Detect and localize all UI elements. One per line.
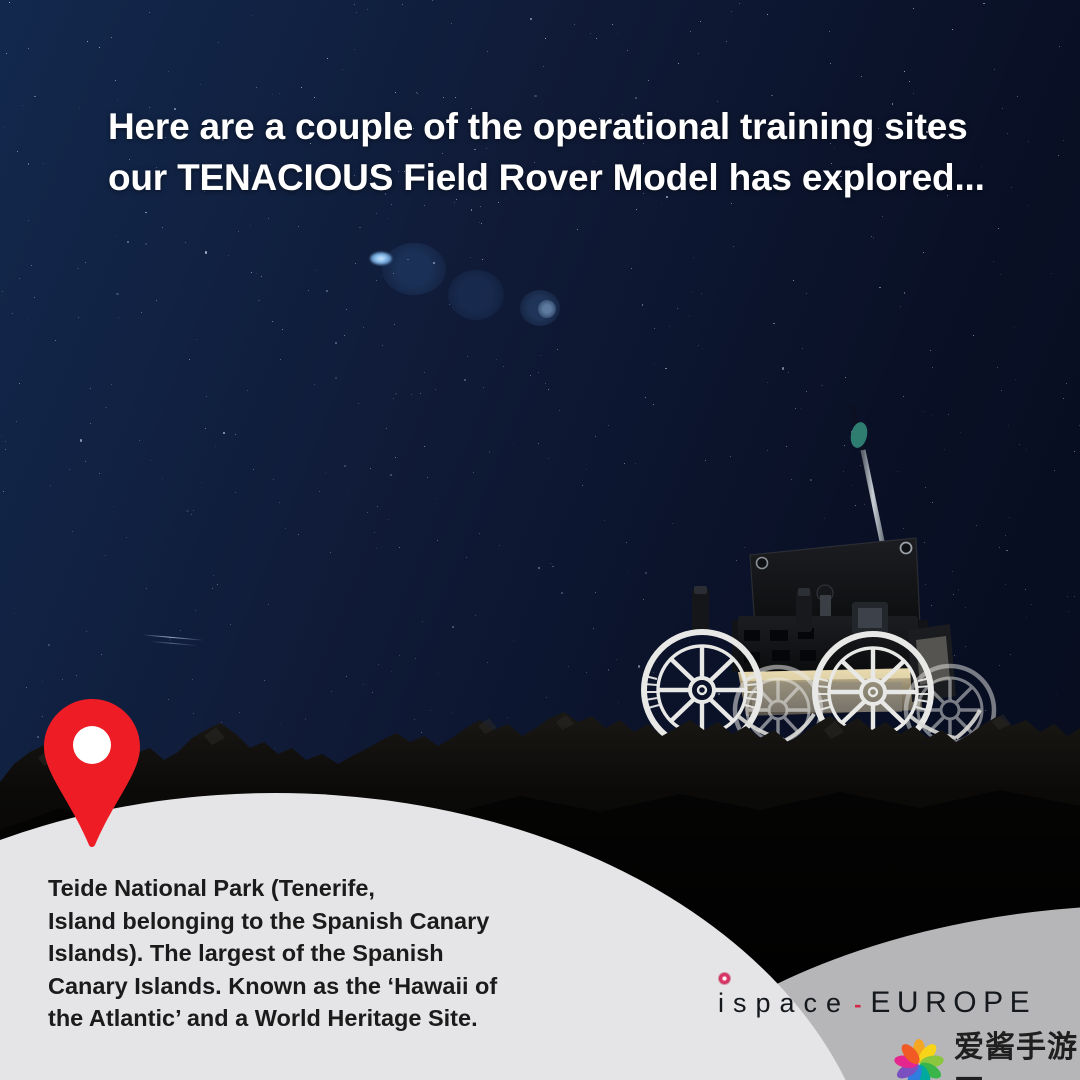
social-post-canvas: Here are a couple of the operational tra… bbox=[0, 0, 1080, 1080]
logo-word-europe: EUROPE bbox=[870, 986, 1036, 1020]
logo-dot-icon bbox=[719, 973, 730, 984]
pinwheel-icon bbox=[893, 1038, 945, 1080]
logo-dash: - bbox=[850, 992, 870, 1018]
page-title: Here are a couple of the operational tra… bbox=[108, 101, 988, 203]
ispace-europe-logo[interactable]: i space - EUROPE bbox=[718, 986, 1036, 1020]
watermark: 爱酱手游网 bbox=[893, 1022, 1080, 1080]
lens-flare-core bbox=[370, 252, 392, 265]
logo-letter-i: i bbox=[718, 988, 733, 1019]
watermark-text: 爱酱手游网 bbox=[954, 1022, 1080, 1080]
logo-word-space: space bbox=[733, 988, 850, 1019]
location-pin-icon[interactable] bbox=[44, 699, 140, 847]
location-caption: Teide National Park (Tenerife, Island be… bbox=[48, 872, 568, 1035]
